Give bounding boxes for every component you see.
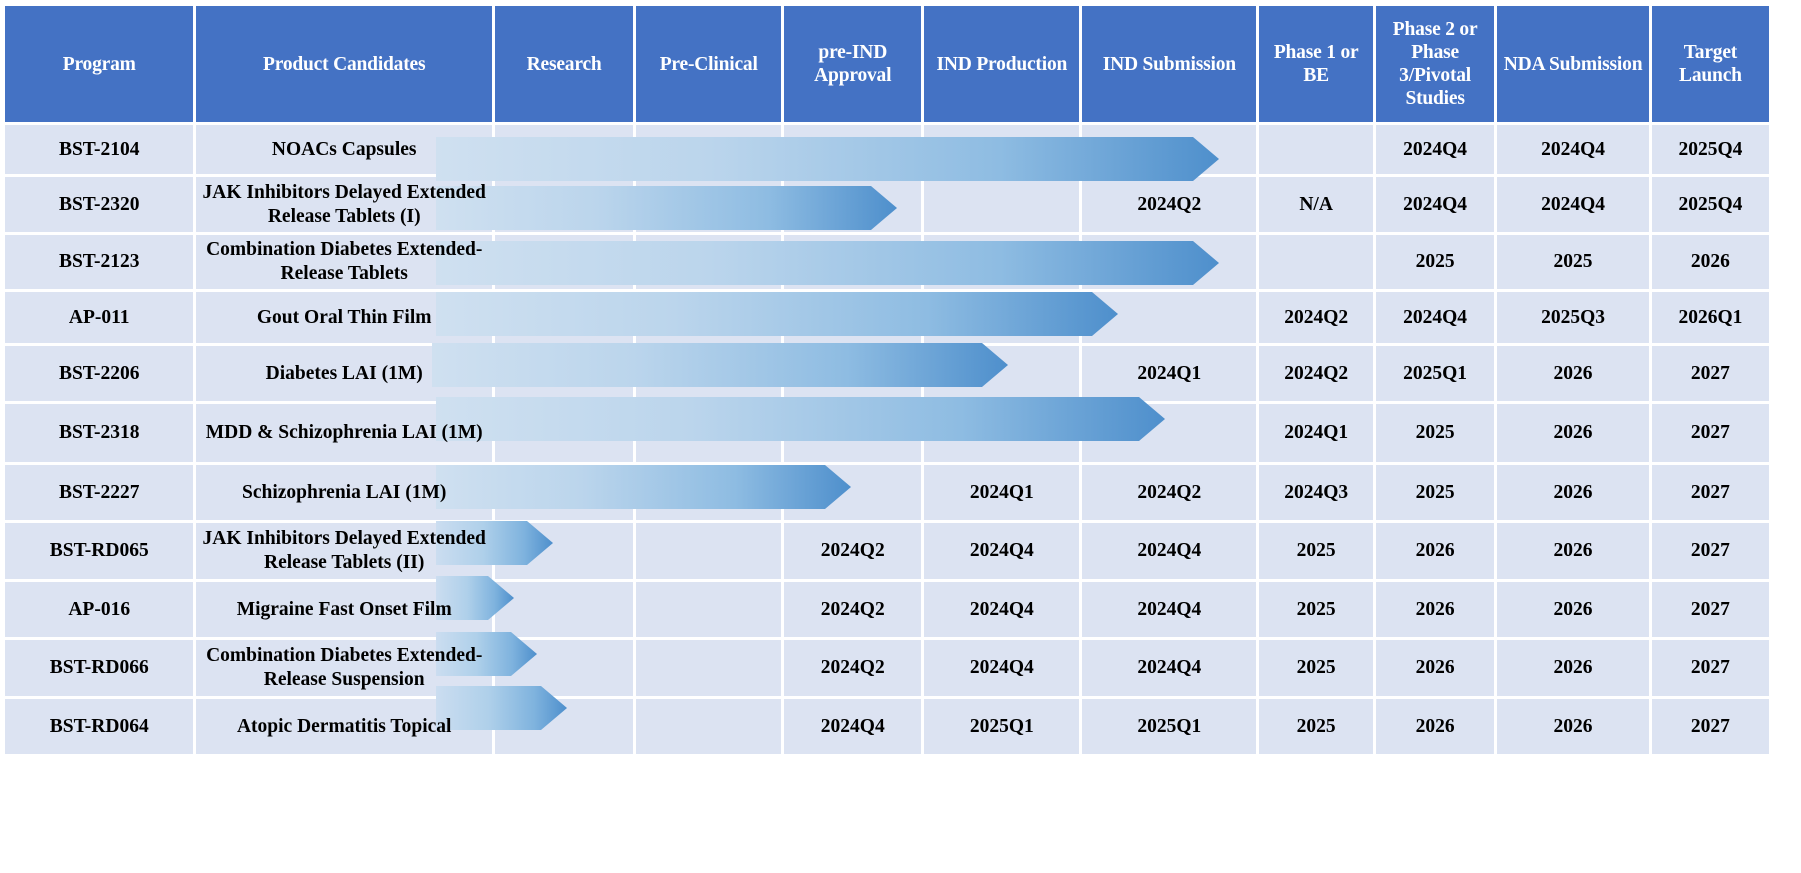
cell-phase1: 2025 <box>1259 582 1373 637</box>
cell-text: 2025Q1 <box>1403 363 1467 384</box>
cell-launch: 2025Q4 <box>1652 125 1769 174</box>
cell-research <box>495 292 633 343</box>
cell-nda: 2026 <box>1497 582 1649 637</box>
cell-phase2: 2024Q4 <box>1376 177 1494 232</box>
cell-preclinical <box>636 292 781 343</box>
cell-text: 2025Q1 <box>970 716 1034 737</box>
cell-text: BST-RD065 <box>50 540 149 561</box>
cell-phase2: 2026 <box>1376 582 1494 637</box>
cell-text: 2024Q2 <box>821 599 885 620</box>
cell-text: 2026 <box>1554 599 1593 620</box>
column-header-research[interactable]: Research <box>495 6 633 122</box>
cell-product-candidate: Combination Diabetes Extended-Release Su… <box>196 640 492 696</box>
cell-indsubmission: 2024Q2 <box>1082 465 1256 520</box>
cell-indproduction: 2024Q4 <box>924 640 1079 696</box>
cell-indproduction <box>924 292 1079 343</box>
cell-preclinical <box>636 699 781 754</box>
cell-text: 2024Q4 <box>1137 540 1201 561</box>
cell-text: 2026 <box>1416 716 1455 737</box>
cell-preind <box>784 125 921 174</box>
cell-text: AP-011 <box>69 307 130 328</box>
cell-text: BST-2227 <box>59 482 140 503</box>
cell-product-candidate: MDD & Schizophrenia LAI (1M) <box>196 404 492 462</box>
cell-text: 2026 <box>1554 363 1593 384</box>
cell-text: 2024Q3 <box>1284 482 1348 503</box>
cell-text: 2026 <box>1416 657 1455 678</box>
cell-preind: 2024Q4 <box>784 699 921 754</box>
cell-preclinical <box>636 125 781 174</box>
cell-text: 2024Q2 <box>1284 363 1348 384</box>
cell-program: BST-2318 <box>5 404 193 462</box>
cell-program: BST-RD066 <box>5 640 193 696</box>
cell-text: BST-2123 <box>59 251 140 272</box>
table-body: BST-2104NOACs Capsules2024Q42024Q42025Q4… <box>5 125 1769 754</box>
cell-product-candidate: Schizophrenia LAI (1M) <box>196 465 492 520</box>
cell-text: 2025 <box>1554 251 1593 272</box>
cell-phase1 <box>1259 235 1373 289</box>
cell-phase2: 2024Q4 <box>1376 292 1494 343</box>
column-header-ind-production[interactable]: IND Production <box>924 6 1079 122</box>
cell-indproduction <box>924 346 1079 401</box>
cell-research <box>495 346 633 401</box>
cell-text: 2026 <box>1416 599 1455 620</box>
cell-product-candidate: NOACs Capsules <box>196 125 492 174</box>
cell-text: 2024Q4 <box>970 657 1034 678</box>
cell-preclinical <box>636 404 781 462</box>
cell-phase2: 2026 <box>1376 640 1494 696</box>
table-row: BST-RD065JAK Inhibitors Delayed Extended… <box>5 523 1769 579</box>
table-row: BST-RD066Combination Diabetes Extended-R… <box>5 640 1769 696</box>
cell-indproduction <box>924 177 1079 232</box>
cell-research <box>495 125 633 174</box>
cell-phase1 <box>1259 125 1373 174</box>
cell-text: 2027 <box>1691 363 1730 384</box>
cell-preind: 2024Q2 <box>784 523 921 579</box>
cell-text: 2026Q1 <box>1678 307 1742 328</box>
column-header-program[interactable]: Program <box>5 6 193 122</box>
cell-text: 2024Q4 <box>1403 307 1467 328</box>
table-row: BST-2320JAK Inhibitors Delayed Extended … <box>5 177 1769 232</box>
cell-launch: 2025Q4 <box>1652 177 1769 232</box>
cell-text: 2025 <box>1297 716 1336 737</box>
cell-text: 2024Q4 <box>1541 194 1605 215</box>
cell-phase2: 2026 <box>1376 699 1494 754</box>
cell-preind: 2024Q2 <box>784 582 921 637</box>
table-row: BST-2123Combination Diabetes Extended-Re… <box>5 235 1769 289</box>
cell-text: 2026 <box>1554 482 1593 503</box>
cell-text: BST-2104 <box>59 139 140 160</box>
cell-text: 2024Q1 <box>970 482 1034 503</box>
cell-text: Migraine Fast Onset Film <box>237 599 452 620</box>
table-row: BST-2318MDD & Schizophrenia LAI (1M)2024… <box>5 404 1769 462</box>
cell-preclinical <box>636 235 781 289</box>
column-header-phase-1[interactable]: Phase 1 or BE <box>1259 6 1373 122</box>
cell-preclinical <box>636 465 781 520</box>
cell-indproduction: 2024Q1 <box>924 465 1079 520</box>
table-header: Program Product Candidates Research Pre-… <box>5 6 1769 122</box>
cell-program: AP-016 <box>5 582 193 637</box>
cell-indproduction: 2025Q1 <box>924 699 1079 754</box>
cell-text: AP-016 <box>68 599 130 620</box>
cell-indproduction: 2024Q4 <box>924 523 1079 579</box>
cell-nda: 2025Q3 <box>1497 292 1649 343</box>
cell-text: 2024Q4 <box>821 716 885 737</box>
cell-text: 2025 <box>1297 657 1336 678</box>
cell-preclinical <box>636 582 781 637</box>
cell-phase1: 2024Q2 <box>1259 292 1373 343</box>
column-header-preclinical[interactable]: Pre-Clinical <box>636 6 781 122</box>
cell-phase1: 2024Q1 <box>1259 404 1373 462</box>
cell-text: BST-RD066 <box>50 657 149 678</box>
table-row: AP-016Migraine Fast Onset Film2024Q22024… <box>5 582 1769 637</box>
cell-indsubmission <box>1082 404 1256 462</box>
cell-indsubmission: 2025Q1 <box>1082 699 1256 754</box>
cell-text: NOACs Capsules <box>272 139 417 160</box>
cell-phase2: 2026 <box>1376 523 1494 579</box>
cell-phase1: 2025 <box>1259 640 1373 696</box>
cell-phase2: 2025 <box>1376 404 1494 462</box>
cell-launch: 2027 <box>1652 523 1769 579</box>
header-row: Program Product Candidates Research Pre-… <box>5 6 1769 122</box>
cell-program: BST-RD064 <box>5 699 193 754</box>
cell-text: 2024Q4 <box>970 599 1034 620</box>
cell-indsubmission <box>1082 292 1256 343</box>
column-header-target-launch[interactable]: Target Launch <box>1652 6 1769 122</box>
cell-product-candidate: Migraine Fast Onset Film <box>196 582 492 637</box>
cell-text: 2024Q2 <box>1137 194 1201 215</box>
cell-nda: 2026 <box>1497 640 1649 696</box>
cell-text: 2027 <box>1691 599 1730 620</box>
cell-launch: 2027 <box>1652 404 1769 462</box>
cell-research <box>495 177 633 232</box>
cell-product-candidate: Diabetes LAI (1M) <box>196 346 492 401</box>
cell-text: 2026 <box>1554 540 1593 561</box>
cell-launch: 2027 <box>1652 346 1769 401</box>
column-header-nda-submission[interactable]: NDA Submission <box>1497 6 1649 122</box>
cell-nda: 2026 <box>1497 404 1649 462</box>
column-header-candidate[interactable]: Product Candidates <box>196 6 492 122</box>
cell-text: BST-2318 <box>59 422 140 443</box>
cell-text: 2025 <box>1416 422 1455 443</box>
cell-preind <box>784 465 921 520</box>
cell-product-candidate: Atopic Dermatitis Topical <box>196 699 492 754</box>
cell-program: BST-2227 <box>5 465 193 520</box>
cell-program: BST-RD065 <box>5 523 193 579</box>
cell-text: 2024Q2 <box>821 657 885 678</box>
cell-text: Gout Oral Thin Film <box>257 307 432 328</box>
cell-research <box>495 404 633 462</box>
cell-text: 2024Q2 <box>1284 307 1348 328</box>
cell-indproduction: 2024Q4 <box>924 582 1079 637</box>
cell-text: 2025 <box>1297 599 1336 620</box>
cell-text: 2026 <box>1416 540 1455 561</box>
cell-launch: 2027 <box>1652 465 1769 520</box>
cell-text: 2024Q4 <box>1137 599 1201 620</box>
cell-text: 2024Q1 <box>1284 422 1348 443</box>
column-header-ind-submission[interactable]: IND Submission <box>1082 6 1256 122</box>
table-row: BST-2227Schizophrenia LAI (1M)2024Q12024… <box>5 465 1769 520</box>
cell-text: 2025 <box>1416 251 1455 272</box>
cell-indproduction <box>924 235 1079 289</box>
cell-phase2: 2025 <box>1376 235 1494 289</box>
cell-program: BST-2320 <box>5 177 193 232</box>
cell-research <box>495 582 633 637</box>
cell-launch: 2027 <box>1652 582 1769 637</box>
cell-launch: 2026 <box>1652 235 1769 289</box>
table-row: AP-011Gout Oral Thin Film2024Q22024Q4202… <box>5 292 1769 343</box>
cell-nda: 2024Q4 <box>1497 125 1649 174</box>
cell-phase2: 2025Q1 <box>1376 346 1494 401</box>
cell-research <box>495 640 633 696</box>
cell-research <box>495 465 633 520</box>
column-header-phase-2[interactable]: Phase 2 or Phase 3/Pivotal Studies <box>1376 6 1494 122</box>
cell-text: 2027 <box>1691 422 1730 443</box>
cell-research <box>495 235 633 289</box>
cell-launch: 2027 <box>1652 640 1769 696</box>
cell-text: 2025Q4 <box>1678 194 1742 215</box>
cell-preclinical <box>636 346 781 401</box>
cell-nda: 2026 <box>1497 465 1649 520</box>
cell-nda: 2026 <box>1497 699 1649 754</box>
cell-text: JAK Inhibitors Delayed Extended Release … <box>203 182 486 227</box>
cell-product-candidate: JAK Inhibitors Delayed Extended Release … <box>196 523 492 579</box>
cell-text: 2026 <box>1554 657 1593 678</box>
cell-text: 2024Q4 <box>1137 657 1201 678</box>
cell-product-candidate: JAK Inhibitors Delayed Extended Release … <box>196 177 492 232</box>
cell-text: Atopic Dermatitis Topical <box>237 716 452 737</box>
cell-indsubmission: 2024Q2 <box>1082 177 1256 232</box>
cell-text: N/A <box>1299 194 1333 215</box>
cell-program: BST-2123 <box>5 235 193 289</box>
pipeline-table: Program Product Candidates Research Pre-… <box>2 3 1772 757</box>
cell-phase2: 2025 <box>1376 465 1494 520</box>
pipeline-chart: Program Product Candidates Research Pre-… <box>0 3 1801 873</box>
cell-text: 2026 <box>1554 716 1593 737</box>
cell-text: MDD & Schizophrenia LAI (1M) <box>206 422 483 443</box>
cell-preind <box>784 346 921 401</box>
cell-preind <box>784 235 921 289</box>
cell-text: 2027 <box>1691 716 1730 737</box>
cell-text: 2025Q3 <box>1541 307 1605 328</box>
cell-preclinical <box>636 177 781 232</box>
cell-launch: 2026Q1 <box>1652 292 1769 343</box>
cell-text: BST-RD064 <box>50 716 149 737</box>
cell-text: 2024Q4 <box>1541 139 1605 160</box>
cell-preind: 2024Q2 <box>784 640 921 696</box>
cell-text: 2026 <box>1554 422 1593 443</box>
cell-indproduction <box>924 404 1079 462</box>
cell-text: 2024Q4 <box>970 540 1034 561</box>
cell-product-candidate: Gout Oral Thin Film <box>196 292 492 343</box>
cell-text: 2025Q4 <box>1678 139 1742 160</box>
cell-phase1: 2024Q2 <box>1259 346 1373 401</box>
cell-text: 2025 <box>1416 482 1455 503</box>
cell-indsubmission <box>1082 125 1256 174</box>
cell-phase1: 2025 <box>1259 523 1373 579</box>
table-row: BST-RD064Atopic Dermatitis Topical2024Q4… <box>5 699 1769 754</box>
column-header-pre-ind[interactable]: pre-IND Approval <box>784 6 921 122</box>
cell-text: 2027 <box>1691 657 1730 678</box>
cell-preclinical <box>636 523 781 579</box>
cell-preclinical <box>636 640 781 696</box>
cell-text: 2025 <box>1297 540 1336 561</box>
cell-program: AP-011 <box>5 292 193 343</box>
cell-text: 2024Q2 <box>821 540 885 561</box>
cell-nda: 2026 <box>1497 523 1649 579</box>
cell-preind <box>784 404 921 462</box>
cell-text: 2026 <box>1691 251 1730 272</box>
cell-text: 2027 <box>1691 540 1730 561</box>
cell-program: BST-2206 <box>5 346 193 401</box>
cell-text: Diabetes LAI (1M) <box>266 363 423 384</box>
cell-indsubmission <box>1082 235 1256 289</box>
cell-text: JAK Inhibitors Delayed Extended Release … <box>203 528 486 573</box>
cell-indproduction <box>924 125 1079 174</box>
cell-research <box>495 523 633 579</box>
cell-indsubmission: 2024Q4 <box>1082 640 1256 696</box>
cell-text: 2024Q4 <box>1403 139 1467 160</box>
cell-phase1: 2024Q3 <box>1259 465 1373 520</box>
cell-text: 2024Q2 <box>1137 482 1201 503</box>
table-row: BST-2104NOACs Capsules2024Q42024Q42025Q4 <box>5 125 1769 174</box>
cell-text: Schizophrenia LAI (1M) <box>242 482 446 503</box>
cell-product-candidate: Combination Diabetes Extended-Release Ta… <box>196 235 492 289</box>
cell-nda: 2024Q4 <box>1497 177 1649 232</box>
cell-text: Combination Diabetes Extended-Release Su… <box>206 645 482 690</box>
cell-indsubmission: 2024Q4 <box>1082 523 1256 579</box>
cell-text: 2024Q4 <box>1403 194 1467 215</box>
cell-indsubmission: 2024Q1 <box>1082 346 1256 401</box>
cell-research <box>495 699 633 754</box>
cell-text: 2025Q1 <box>1137 716 1201 737</box>
cell-nda: 2026 <box>1497 346 1649 401</box>
table-row: BST-2206Diabetes LAI (1M)2024Q12024Q2202… <box>5 346 1769 401</box>
cell-preind <box>784 177 921 232</box>
cell-text: 2027 <box>1691 482 1730 503</box>
cell-nda: 2025 <box>1497 235 1649 289</box>
cell-program: BST-2104 <box>5 125 193 174</box>
cell-text: Combination Diabetes Extended-Release Ta… <box>206 239 482 284</box>
cell-indsubmission: 2024Q4 <box>1082 582 1256 637</box>
cell-text: 2024Q1 <box>1137 363 1201 384</box>
cell-text: BST-2206 <box>59 363 140 384</box>
cell-preind <box>784 292 921 343</box>
cell-phase1: 2025 <box>1259 699 1373 754</box>
cell-phase2: 2024Q4 <box>1376 125 1494 174</box>
cell-phase1: N/A <box>1259 177 1373 232</box>
cell-launch: 2027 <box>1652 699 1769 754</box>
cell-text: BST-2320 <box>59 194 140 215</box>
